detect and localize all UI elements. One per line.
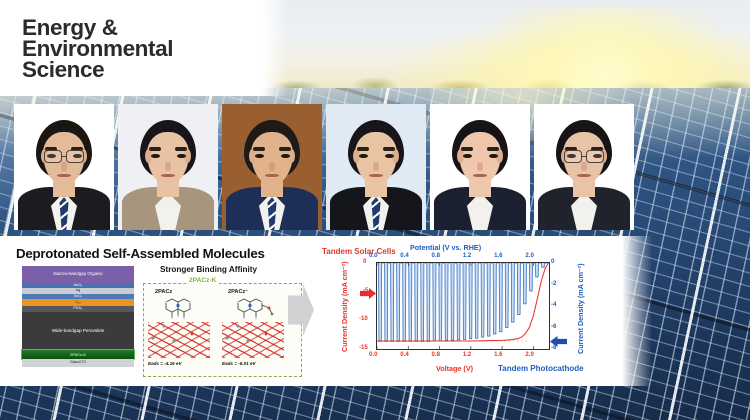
left-tick-0: 0 bbox=[363, 258, 366, 265]
right-tick-2: -4 bbox=[551, 301, 556, 308]
bottom-axis-title: Voltage (V) bbox=[436, 364, 473, 373]
plot-area bbox=[376, 262, 550, 350]
left-tick-3: -15 bbox=[359, 344, 368, 351]
portrait-brow-right bbox=[383, 147, 395, 151]
device-stack-diagram: Narrow-bandgap OrganicMoO₃AgSnO₂C₆₀PDAI₂… bbox=[22, 266, 134, 374]
portrait-eye-right bbox=[281, 154, 290, 159]
portrait-nose bbox=[477, 162, 483, 171]
perovskite-slab-1 bbox=[148, 322, 210, 358]
author-portrait-6 bbox=[534, 104, 634, 230]
portrait-brow-left bbox=[461, 147, 473, 151]
top-tick-0: 0.0 bbox=[369, 252, 377, 259]
adsorption-energy-1: Eads = -4.16 eV bbox=[148, 361, 182, 366]
portrait-eye-left bbox=[359, 154, 368, 159]
top-tick-1: 0.4 bbox=[400, 252, 408, 259]
bottom-tick-0: 0.0 bbox=[369, 351, 377, 358]
journal-title: Energy & Environmental Science bbox=[22, 17, 254, 80]
molecule-structure-2 bbox=[226, 296, 278, 322]
author-portrait-3 bbox=[222, 104, 322, 230]
bottom-tick-2: 0.8 bbox=[432, 351, 440, 358]
jv-chart: Potential (V vs. RHE) Voltage (V) Curren… bbox=[318, 244, 606, 380]
stack-layer-7: 2PACz-K bbox=[22, 350, 134, 359]
molecule-structure-1 bbox=[152, 296, 204, 322]
top-tick-3: 1.2 bbox=[463, 252, 471, 259]
top-tick-4: 1.6 bbox=[494, 252, 502, 259]
portrait-brow-left bbox=[149, 147, 161, 151]
plot-curves bbox=[377, 263, 549, 349]
portrait-brow-right bbox=[487, 147, 499, 151]
molecule-label-1: 2PACz bbox=[155, 289, 172, 295]
right-axis-title: Current Density (mA cm⁻²) bbox=[576, 263, 585, 354]
stack-layer-4: C₆₀ bbox=[22, 299, 134, 306]
portrait-nose bbox=[581, 162, 587, 171]
top-axis-title: Potential (V vs. RHE) bbox=[410, 243, 481, 252]
portrait-nose bbox=[165, 162, 171, 171]
portrait-eye-right bbox=[385, 154, 394, 159]
bottom-tick-3: 1.2 bbox=[463, 351, 471, 358]
stack-layer-6: Wide-bandgap Perovskite bbox=[22, 312, 134, 350]
portrait-brow-right bbox=[279, 147, 291, 151]
author-portrait-1 bbox=[14, 104, 114, 230]
bottom-tick-5: 2.0 bbox=[525, 351, 533, 358]
portrait-brow-left bbox=[357, 147, 369, 151]
eyeglasses-icon bbox=[44, 151, 84, 162]
bottom-tick-4: 1.6 bbox=[494, 351, 502, 358]
stack-layer-8: Glass/ITO bbox=[22, 359, 134, 367]
binding-affinity-heading: Stronger Binding Affinity bbox=[160, 265, 257, 274]
portrait-brow-right bbox=[175, 147, 187, 151]
portrait-eye-right bbox=[489, 154, 498, 159]
top-tick-5: 2.0 bbox=[525, 252, 533, 259]
right-tick-0: 0 bbox=[551, 258, 554, 265]
portrait-nose bbox=[61, 162, 67, 171]
portrait-nose bbox=[269, 162, 275, 171]
molbox-caption: 2PACz-K bbox=[186, 277, 219, 284]
stack-layer-0: Narrow-bandgap Organic bbox=[22, 266, 134, 283]
perovskite-slab-2 bbox=[222, 322, 284, 358]
portrait-eye-left bbox=[151, 154, 160, 159]
poster-canvas: Energy & Environmental Science Deprotona… bbox=[0, 0, 750, 420]
right-tick-1: -2 bbox=[551, 280, 556, 287]
adsorption-energy-2: Eads = -5.01 eV bbox=[222, 361, 256, 366]
left-axis-title: Current Density (mA cm⁻²) bbox=[340, 261, 349, 352]
author-portrait-2 bbox=[118, 104, 218, 230]
portrait-nose bbox=[373, 162, 379, 171]
author-portrait-strip bbox=[14, 104, 632, 230]
figure-title: Deprotonated Self-Assembled Molecules bbox=[16, 246, 265, 261]
portrait-eye-left bbox=[463, 154, 472, 159]
portrait-brow-left bbox=[253, 147, 265, 151]
right-tick-3: -6 bbox=[551, 323, 556, 330]
author-portrait-4 bbox=[326, 104, 426, 230]
eyeglasses-icon bbox=[564, 151, 604, 162]
molecule-label-2: 2PACz⁻ bbox=[228, 289, 248, 295]
left-tick-2: -10 bbox=[359, 315, 368, 322]
portrait-eye-right bbox=[177, 154, 186, 159]
top-tick-2: 0.8 bbox=[432, 252, 440, 259]
portrait-eye-left bbox=[255, 154, 264, 159]
author-portrait-5 bbox=[430, 104, 530, 230]
bottom-tick-1: 0.4 bbox=[400, 351, 408, 358]
